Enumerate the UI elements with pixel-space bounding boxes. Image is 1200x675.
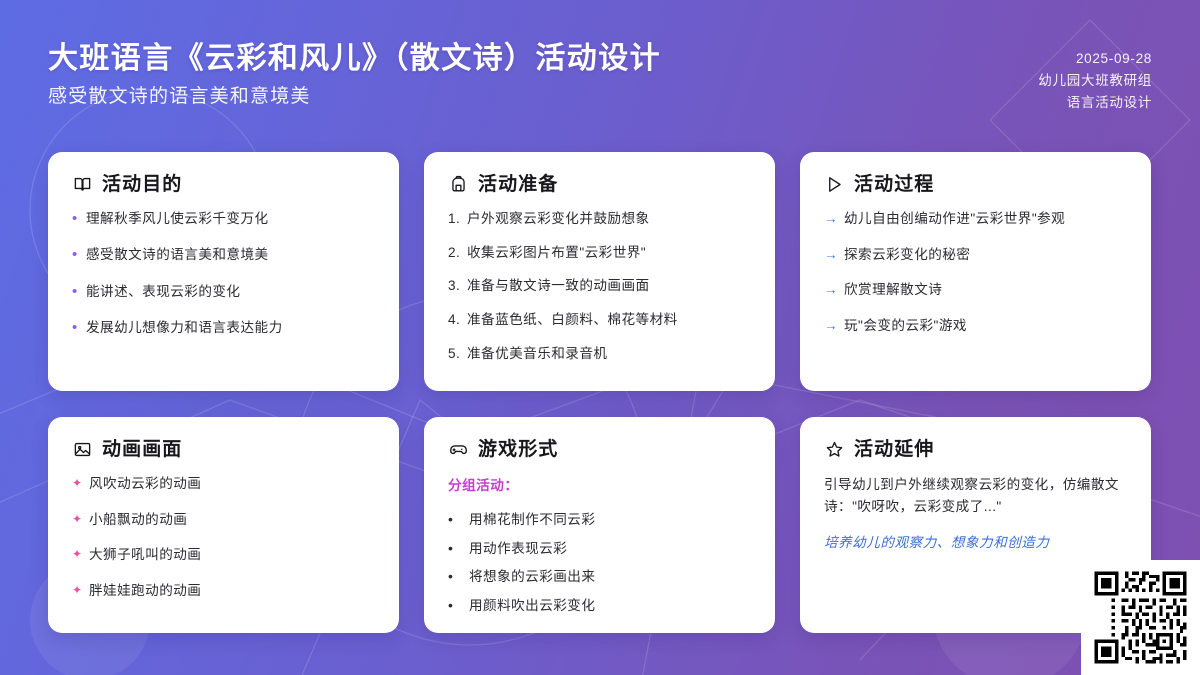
card-title: 游戏形式: [478, 440, 558, 459]
list-item: →玩"会变的云彩"游戏: [824, 316, 1127, 336]
meta-category: 语言活动设计: [1038, 92, 1152, 114]
list-item: ✦小船飘动的动画: [72, 510, 375, 530]
dot-bullet-icon: •: [72, 245, 86, 265]
star-icon: [824, 439, 845, 460]
picture-icon: [72, 439, 93, 460]
arrow-right-icon: →: [824, 316, 844, 336]
list-item-number: 5.: [448, 344, 467, 364]
page-title: 大班语言《云彩和风儿》（散文诗）活动设计: [48, 40, 661, 77]
card-title: 活动延伸: [854, 440, 934, 459]
list-item-text: 将想象的云彩画出来: [469, 567, 595, 587]
list-item-text: 幼儿自由创编动作进"云彩世界"参观: [844, 209, 1065, 229]
gamepad-icon: [448, 439, 469, 460]
extension-accent: 培养幼儿的观察力、想象力和创造力: [824, 533, 1127, 553]
dot-bullet-icon: •: [448, 596, 469, 614]
objectives-list: •理解秋季风儿使云彩千变万化 •感受散文诗的语言美和意境美 •能讲述、表现云彩的…: [72, 209, 375, 338]
list-item: •用动作表现云彩: [448, 539, 751, 559]
list-item: →探索云彩变化的秘密: [824, 245, 1127, 265]
list-item-number: 4.: [448, 310, 467, 330]
extension-body: 引导幼儿到户外继续观察云彩的变化，仿编散文诗："吹呀吹，云彩变成了...": [824, 474, 1127, 518]
list-item: •将想象的云彩画出来: [448, 567, 751, 587]
list-item: 1.户外观察云彩变化并鼓励想象: [448, 209, 751, 229]
card-header: 游戏形式: [448, 439, 751, 460]
header-title-block: 大班语言《云彩和风儿》（散文诗）活动设计 感受散文诗的语言美和意境美: [48, 40, 661, 110]
list-item: •理解秋季风儿使云彩千变万化: [72, 209, 375, 229]
list-item: 4.准备蓝色纸、白颜料、棉花等材料: [448, 310, 751, 330]
dot-bullet-icon: •: [448, 510, 469, 528]
qr-code[interactable]: [1081, 560, 1200, 675]
page-header: 大班语言《云彩和风儿》（散文诗）活动设计 感受散文诗的语言美和意境美 2025-…: [0, 0, 1200, 152]
list-item-text: 收集云彩图片布置"云彩世界": [467, 243, 646, 263]
card-header: 活动延伸: [824, 439, 1127, 460]
group-activity-label: 分组活动：: [448, 474, 751, 494]
card-game-format: 游戏形式 分组活动： •用棉花制作不同云彩 •用动作表现云彩 •将想象的云彩画出…: [424, 417, 775, 633]
card-objectives: 活动目的 •理解秋季风儿使云彩千变万化 •感受散文诗的语言美和意境美 •能讲述、…: [48, 152, 399, 391]
list-item: •用棉花制作不同云彩: [448, 510, 751, 530]
page-subtitle: 感受散文诗的语言美和意境美: [48, 85, 661, 110]
card-header: 动画画面: [72, 439, 375, 460]
list-item-text: 用棉花制作不同云彩: [469, 510, 595, 530]
list-item-text: 发展幼儿想像力和语言表达能力: [86, 318, 283, 338]
card-title: 动画画面: [102, 440, 182, 459]
list-item-text: 风吹动云彩的动画: [89, 474, 201, 494]
list-item-text: 理解秋季风儿使云彩千变万化: [86, 209, 269, 229]
list-item: ✦胖娃娃跑动的动画: [72, 581, 375, 601]
list-item-text: 能讲述、表现云彩的变化: [86, 282, 240, 302]
list-item-text: 探索云彩变化的秘密: [844, 245, 970, 265]
list-item-number: 3.: [448, 276, 467, 296]
meta-organization: 幼儿园大班教研组: [1038, 70, 1152, 92]
arrow-right-icon: →: [824, 245, 844, 265]
list-item: 2.收集云彩图片布置"云彩世界": [448, 243, 751, 263]
backpack-icon: [448, 174, 469, 195]
header-meta: 2025-09-28 幼儿园大班教研组 语言活动设计: [1038, 40, 1152, 114]
list-item-text: 用动作表现云彩: [469, 539, 567, 559]
open-book-icon: [72, 174, 93, 195]
list-item: →幼儿自由创编动作进"云彩世界"参观: [824, 209, 1127, 229]
arrow-right-icon: →: [824, 209, 844, 229]
list-item-text: 欣赏理解散文诗: [844, 280, 942, 300]
list-item: •发展幼儿想像力和语言表达能力: [72, 318, 375, 338]
list-item-text: 小船飘动的动画: [89, 510, 187, 530]
meta-date: 2025-09-28: [1038, 48, 1152, 70]
list-item-text: 户外观察云彩变化并鼓励想象: [467, 209, 650, 229]
sparkle-icon: ✦: [72, 581, 89, 600]
card-grid: 活动目的 •理解秋季风儿使云彩千变万化 •感受散文诗的语言美和意境美 •能讲述、…: [48, 152, 1152, 633]
card-process: 活动过程 →幼儿自由创编动作进"云彩世界"参观 →探索云彩变化的秘密 →欣赏理解…: [800, 152, 1151, 391]
list-item-text: 胖娃娃跑动的动画: [89, 581, 201, 601]
list-item-text: 玩"会变的云彩"游戏: [844, 316, 967, 336]
preparation-list: 1.户外观察云彩变化并鼓励想象 2.收集云彩图片布置"云彩世界" 3.准备与散文…: [448, 209, 751, 364]
card-title: 活动准备: [478, 175, 558, 194]
sparkle-icon: ✦: [72, 510, 89, 529]
game-format-list: •用棉花制作不同云彩 •用动作表现云彩 •将想象的云彩画出来 •用颜料吹出云彩变…: [448, 510, 751, 616]
card-title: 活动过程: [854, 175, 934, 194]
card-header: 活动目的: [72, 174, 375, 195]
list-item: •能讲述、表现云彩的变化: [72, 282, 375, 302]
animation-list: ✦风吹动云彩的动画 ✦小船飘动的动画 ✦大狮子吼叫的动画 ✦胖娃娃跑动的动画: [72, 474, 375, 601]
card-animation: 动画画面 ✦风吹动云彩的动画 ✦小船飘动的动画 ✦大狮子吼叫的动画 ✦胖娃娃跑动…: [48, 417, 399, 633]
dot-bullet-icon: •: [448, 539, 469, 557]
list-item: 5.准备优美音乐和录音机: [448, 344, 751, 364]
card-title: 活动目的: [102, 175, 182, 194]
list-item-text: 大狮子吼叫的动画: [89, 545, 201, 565]
arrow-right-icon: →: [824, 280, 844, 300]
sparkle-icon: ✦: [72, 545, 89, 564]
list-item: •感受散文诗的语言美和意境美: [72, 245, 375, 265]
play-triangle-icon: [824, 174, 845, 195]
card-header: 活动准备: [448, 174, 751, 195]
list-item: 3.准备与散文诗一致的动画画面: [448, 276, 751, 296]
list-item-number: 1.: [448, 209, 467, 229]
dot-bullet-icon: •: [448, 567, 469, 585]
list-item-number: 2.: [448, 243, 467, 263]
list-item: ✦大狮子吼叫的动画: [72, 545, 375, 565]
sparkle-icon: ✦: [72, 474, 89, 493]
dot-bullet-icon: •: [72, 209, 86, 229]
list-item: •用颜料吹出云彩变化: [448, 596, 751, 616]
card-header: 活动过程: [824, 174, 1127, 195]
list-item-text: 准备与散文诗一致的动画画面: [467, 276, 650, 296]
card-preparation: 活动准备 1.户外观察云彩变化并鼓励想象 2.收集云彩图片布置"云彩世界" 3.…: [424, 152, 775, 391]
list-item: ✦风吹动云彩的动画: [72, 474, 375, 494]
list-item-text: 准备优美音乐和录音机: [467, 344, 607, 364]
dot-bullet-icon: •: [72, 282, 86, 302]
list-item: →欣赏理解散文诗: [824, 280, 1127, 300]
list-item-text: 准备蓝色纸、白颜料、棉花等材料: [467, 310, 678, 330]
list-item-text: 感受散文诗的语言美和意境美: [86, 245, 269, 265]
list-item-text: 用颜料吹出云彩变化: [469, 596, 595, 616]
dot-bullet-icon: •: [72, 318, 86, 338]
process-list: →幼儿自由创编动作进"云彩世界"参观 →探索云彩变化的秘密 →欣赏理解散文诗 →…: [824, 209, 1127, 336]
